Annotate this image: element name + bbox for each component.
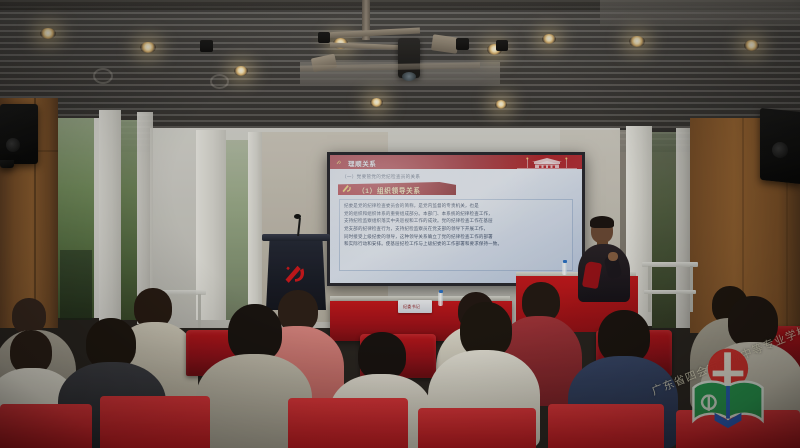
slide-header-title: 理顺关系 (348, 158, 376, 168)
auditorium-seat (418, 408, 536, 448)
slide-section-title: （1）组织领导关系 (358, 185, 421, 195)
slide-paragraph-line: 支持纪检监察组织落实中央巡视和工作的成效。党的纪律检查工作在基层 (344, 218, 568, 224)
track-speaker (200, 40, 213, 52)
microphone-icon (294, 214, 301, 219)
auditorium-seat (100, 396, 210, 448)
pillar-right-inner (676, 128, 690, 328)
lectern-top-surface (262, 234, 330, 241)
slide-paragraph-line: 党的组织和组织体系的重要组成部分。本部门、本系统的纪律检查工作， (344, 211, 568, 217)
ceiling-panel-right (600, 0, 800, 26)
bottle-cap (563, 260, 567, 263)
speaker-bracket (0, 160, 14, 168)
cart-leg (648, 266, 651, 312)
ceiling-spotlight (629, 36, 645, 47)
party-emblem-icon (335, 159, 343, 166)
projector-bracket (431, 34, 459, 53)
track-speaker (496, 40, 508, 51)
projector-lens-icon (402, 72, 416, 81)
tiananmen-gate-icon (516, 156, 578, 169)
slide-subheading: （一）党要管党的党纪检查员的关系 (342, 174, 420, 180)
window-right (652, 132, 676, 328)
ceiling-spotlight (744, 40, 759, 51)
ceiling-spotlight (40, 28, 56, 39)
water-bottle (562, 262, 567, 275)
lecture-hall-photo: 理顺关系 （一）党要管党的党纪检查员的关系 (0, 0, 800, 448)
attendee-head (12, 298, 46, 334)
track-speaker (318, 32, 330, 43)
auditorium-seat (0, 404, 92, 448)
party-emblem-icon (340, 183, 354, 195)
presenter-hand (608, 252, 618, 261)
projection-screen: 理顺关系 （一）党要管党的党纪检查员的关系 (330, 155, 582, 283)
presenter-hair (590, 216, 614, 228)
ceiling-spotlight (370, 98, 383, 107)
slide-paragraph-box: 纪委是党的纪律检查委员会的简称，是党内监督的专责机关，也是 党的组织和组织体系的… (339, 199, 573, 271)
ceiling-spotlight (542, 34, 556, 44)
ceiling-light-ring (210, 74, 229, 89)
slide-body: （一）党要管党的党纪检查员的关系 （1）组织领导关系 纪委是党的纪律检查委员会的… (330, 169, 582, 283)
ceiling-spotlight (234, 66, 248, 76)
ceiling-light-ring (93, 68, 113, 84)
track-speaker (456, 38, 469, 50)
speaker-driver-icon (6, 138, 20, 152)
slide-paragraph-line: 纪委是党的纪律检查委员会的简称，是党内监督的专责机关，也是 (344, 203, 568, 209)
auditorium-seat (288, 398, 408, 448)
auditorium-seat (548, 404, 664, 448)
slide-header-band: 理顺关系 (330, 155, 582, 169)
speaker-driver-icon (772, 142, 788, 158)
attendee-head (728, 296, 778, 348)
slide-paragraph-line: 同时接受上级纪委的领导，这种领导关系确立了党的纪律检查工作的部署 (344, 234, 568, 240)
wall-speaker (0, 104, 38, 164)
ceiling-spotlight (495, 100, 507, 109)
ceiling-spotlight (140, 42, 156, 53)
hammer-sickle-icon (282, 262, 308, 286)
slide-paragraph-line: 党支部的纪律检查行为，支持纪检监察员在党支部的领导下开展工作， (344, 226, 568, 232)
equipment-cart-shelf (644, 290, 696, 294)
name-placard-text: 纪委书记 (403, 304, 420, 310)
auditorium-seat (676, 410, 800, 448)
presenter (578, 218, 630, 302)
attendee-head (358, 332, 406, 380)
slide-paragraph-line: 和实际行动和安排。使基层纪检工作与上级纪委的工作部署和要求保持一致。 (344, 241, 568, 247)
window-center (226, 140, 248, 320)
